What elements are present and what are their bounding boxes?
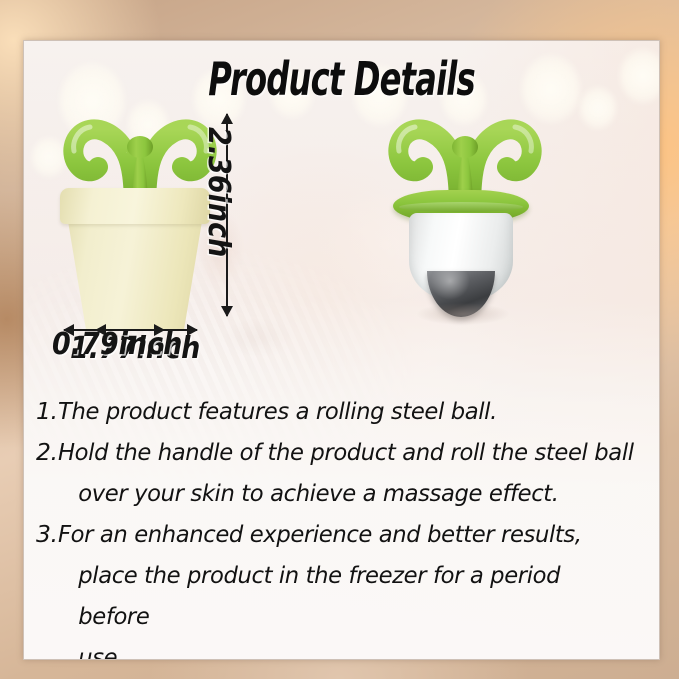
feature-text: The product features a rolling steel bal… [58, 391, 634, 432]
feature-item: 1.The product features a rolling steel b… [36, 391, 655, 432]
dimension-label-width-right: 0.79inch [52, 329, 182, 361]
bokeh-light [580, 87, 616, 129]
feature-text: Hold the handle of the product and roll … [58, 432, 634, 514]
feature-item: 2.Hold the handle of the product and rol… [36, 432, 655, 514]
feature-number: 2. [36, 432, 58, 473]
feature-line: place the product in the freezer for a p… [58, 555, 634, 637]
feature-list: 1.The product features a rolling steel b… [36, 391, 655, 660]
steel-ball-shadow [417, 303, 509, 325]
feature-line: The product features a rolling steel bal… [58, 397, 497, 425]
bokeh-light [620, 49, 660, 103]
feature-line: use. [58, 637, 634, 660]
flange-groove [399, 202, 523, 212]
product-details-card: Product Details [23, 40, 660, 660]
feature-item: 3.For an enhanced experience and better … [36, 514, 655, 660]
feature-text: For an enhanced experience and better re… [58, 514, 634, 660]
feature-number: 3. [36, 514, 58, 555]
page-title: Product Details [119, 53, 564, 105]
feature-number: 1. [36, 391, 58, 432]
feature-line: over your skin to achieve a massage effe… [58, 473, 634, 514]
arrow-head-up [221, 113, 233, 124]
dimension-label-height: 2.36inch [202, 127, 234, 257]
product-image-steel-ball [369, 103, 569, 373]
pot-rim [60, 188, 210, 224]
feature-line: For an enhanced experience and better re… [58, 520, 582, 548]
arrow-head-down [221, 306, 233, 317]
feature-line: Hold the handle of the product and roll … [58, 438, 634, 466]
